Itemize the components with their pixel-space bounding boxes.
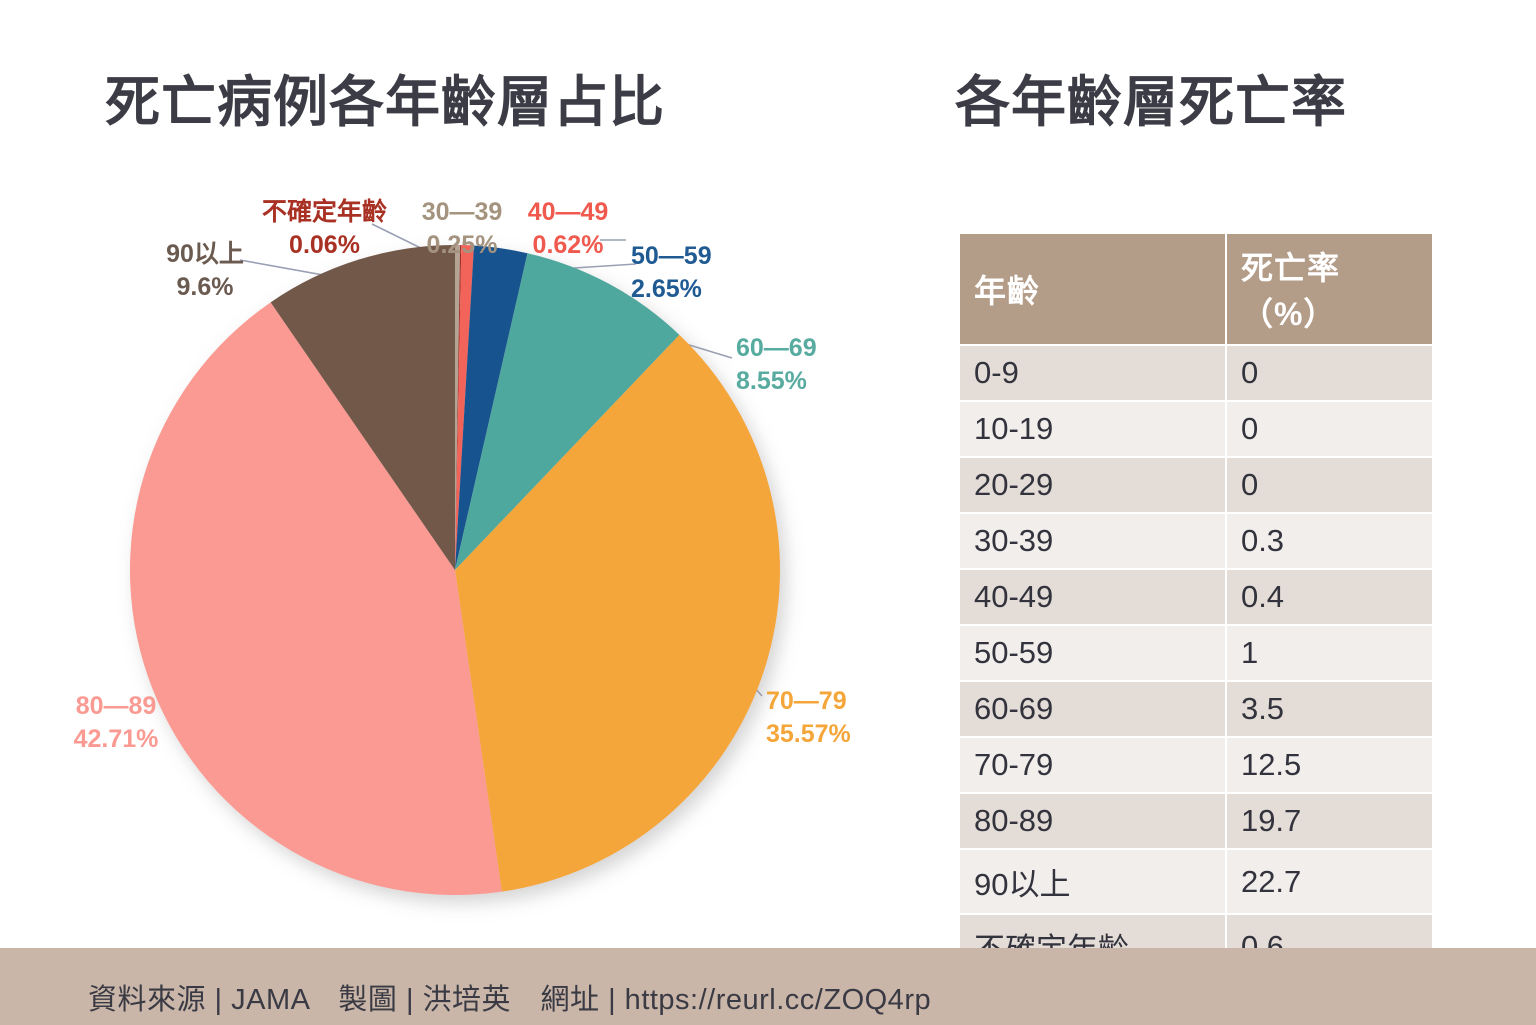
cell-age: 70-79 bbox=[960, 738, 1225, 792]
pie-label-name: 30—39 bbox=[404, 196, 520, 229]
cell-rate: 3.5 bbox=[1227, 682, 1432, 736]
cell-age: 40-49 bbox=[960, 570, 1225, 624]
pie-label-name: 40—49 bbox=[510, 196, 626, 229]
table-row: 30-390.3 bbox=[960, 514, 1432, 568]
cell-rate: 0 bbox=[1227, 346, 1432, 400]
pie-label-value: 2.65% bbox=[631, 273, 741, 306]
pie-chart-panel: 不確定年齡 0.06% 30—39 0.25% 40—49 0.62% 50—5… bbox=[0, 160, 900, 940]
cell-age: 0-9 bbox=[960, 346, 1225, 400]
cell-age: 20-29 bbox=[960, 458, 1225, 512]
table-row: 10-190 bbox=[960, 402, 1432, 456]
table-header-row: 年齡 死亡率（%） bbox=[960, 234, 1432, 344]
pie-label-60-69: 60—69 8.55% bbox=[736, 332, 846, 398]
pie-label-name: 90以上 bbox=[150, 238, 260, 271]
pie-label-70-79: 70—79 35.57% bbox=[766, 685, 876, 751]
cell-rate: 19.7 bbox=[1227, 794, 1432, 848]
pie-label-name: 不確定年齡 bbox=[252, 196, 397, 229]
pie-label-value: 9.6% bbox=[150, 271, 260, 304]
pie-label-value: 0.25% bbox=[404, 229, 520, 262]
mortality-rate-table: 年齡 死亡率（%） 0-9010-19020-29030-390.340-490… bbox=[958, 232, 1434, 980]
cell-rate: 12.5 bbox=[1227, 738, 1432, 792]
cell-age: 80-89 bbox=[960, 794, 1225, 848]
pie-label-value: 42.71% bbox=[56, 723, 176, 756]
table-row: 90以上22.7 bbox=[960, 850, 1432, 913]
pie-label-value: 8.55% bbox=[736, 365, 846, 398]
table-row: 40-490.4 bbox=[960, 570, 1432, 624]
pie-label-value: 35.57% bbox=[766, 718, 876, 751]
page-title-table: 各年齡層死亡率 bbox=[955, 57, 1347, 137]
pie-chart-svg bbox=[0, 160, 900, 940]
pie-label-name: 80—89 bbox=[56, 690, 176, 723]
column-header-age: 年齡 bbox=[960, 234, 1225, 344]
cell-age: 10-19 bbox=[960, 402, 1225, 456]
page-title-pie: 死亡病例各年齡層占比 bbox=[105, 57, 665, 137]
cell-rate: 0 bbox=[1227, 458, 1432, 512]
table-body: 0-9010-19020-29030-390.340-490.450-59160… bbox=[960, 346, 1432, 978]
table-row: 50-591 bbox=[960, 626, 1432, 680]
table-row: 20-290 bbox=[960, 458, 1432, 512]
footer-source-text: 資料來源 | JAMA 製圖 | 洪培英 網址 | https://reurl.… bbox=[88, 976, 931, 1018]
pie-label-30-39: 30—39 0.25% bbox=[404, 196, 520, 262]
cell-age: 30-39 bbox=[960, 514, 1225, 568]
table-header: 年齡 死亡率（%） bbox=[960, 234, 1432, 344]
pie-label-name: 70—79 bbox=[766, 685, 876, 718]
cell-rate: 0.4 bbox=[1227, 570, 1432, 624]
table-row: 70-7912.5 bbox=[960, 738, 1432, 792]
pie-label-40-49: 40—49 0.62% bbox=[510, 196, 626, 262]
pie-label-name: 60—69 bbox=[736, 332, 846, 365]
cell-rate: 0 bbox=[1227, 402, 1432, 456]
pie-label-uncertain-age: 不確定年齡 0.06% bbox=[252, 196, 397, 262]
cell-rate: 1 bbox=[1227, 626, 1432, 680]
cell-age: 90以上 bbox=[960, 850, 1225, 913]
pie-label-value: 0.62% bbox=[510, 229, 626, 262]
table-row: 60-693.5 bbox=[960, 682, 1432, 736]
table-row: 0-90 bbox=[960, 346, 1432, 400]
pie-label-50-59: 50—59 2.65% bbox=[631, 240, 741, 306]
cell-age: 60-69 bbox=[960, 682, 1225, 736]
pie-label-80-89: 80—89 42.71% bbox=[56, 690, 176, 756]
cell-rate: 0.3 bbox=[1227, 514, 1432, 568]
cell-age: 50-59 bbox=[960, 626, 1225, 680]
pie-label-90-plus: 90以上 9.6% bbox=[150, 238, 260, 304]
pie-label-name: 50—59 bbox=[631, 240, 741, 273]
table-row: 80-8919.7 bbox=[960, 794, 1432, 848]
pie-slices-group bbox=[130, 245, 780, 895]
column-header-rate: 死亡率（%） bbox=[1227, 234, 1432, 344]
pie-label-value: 0.06% bbox=[252, 229, 397, 262]
cell-rate: 22.7 bbox=[1227, 850, 1432, 913]
